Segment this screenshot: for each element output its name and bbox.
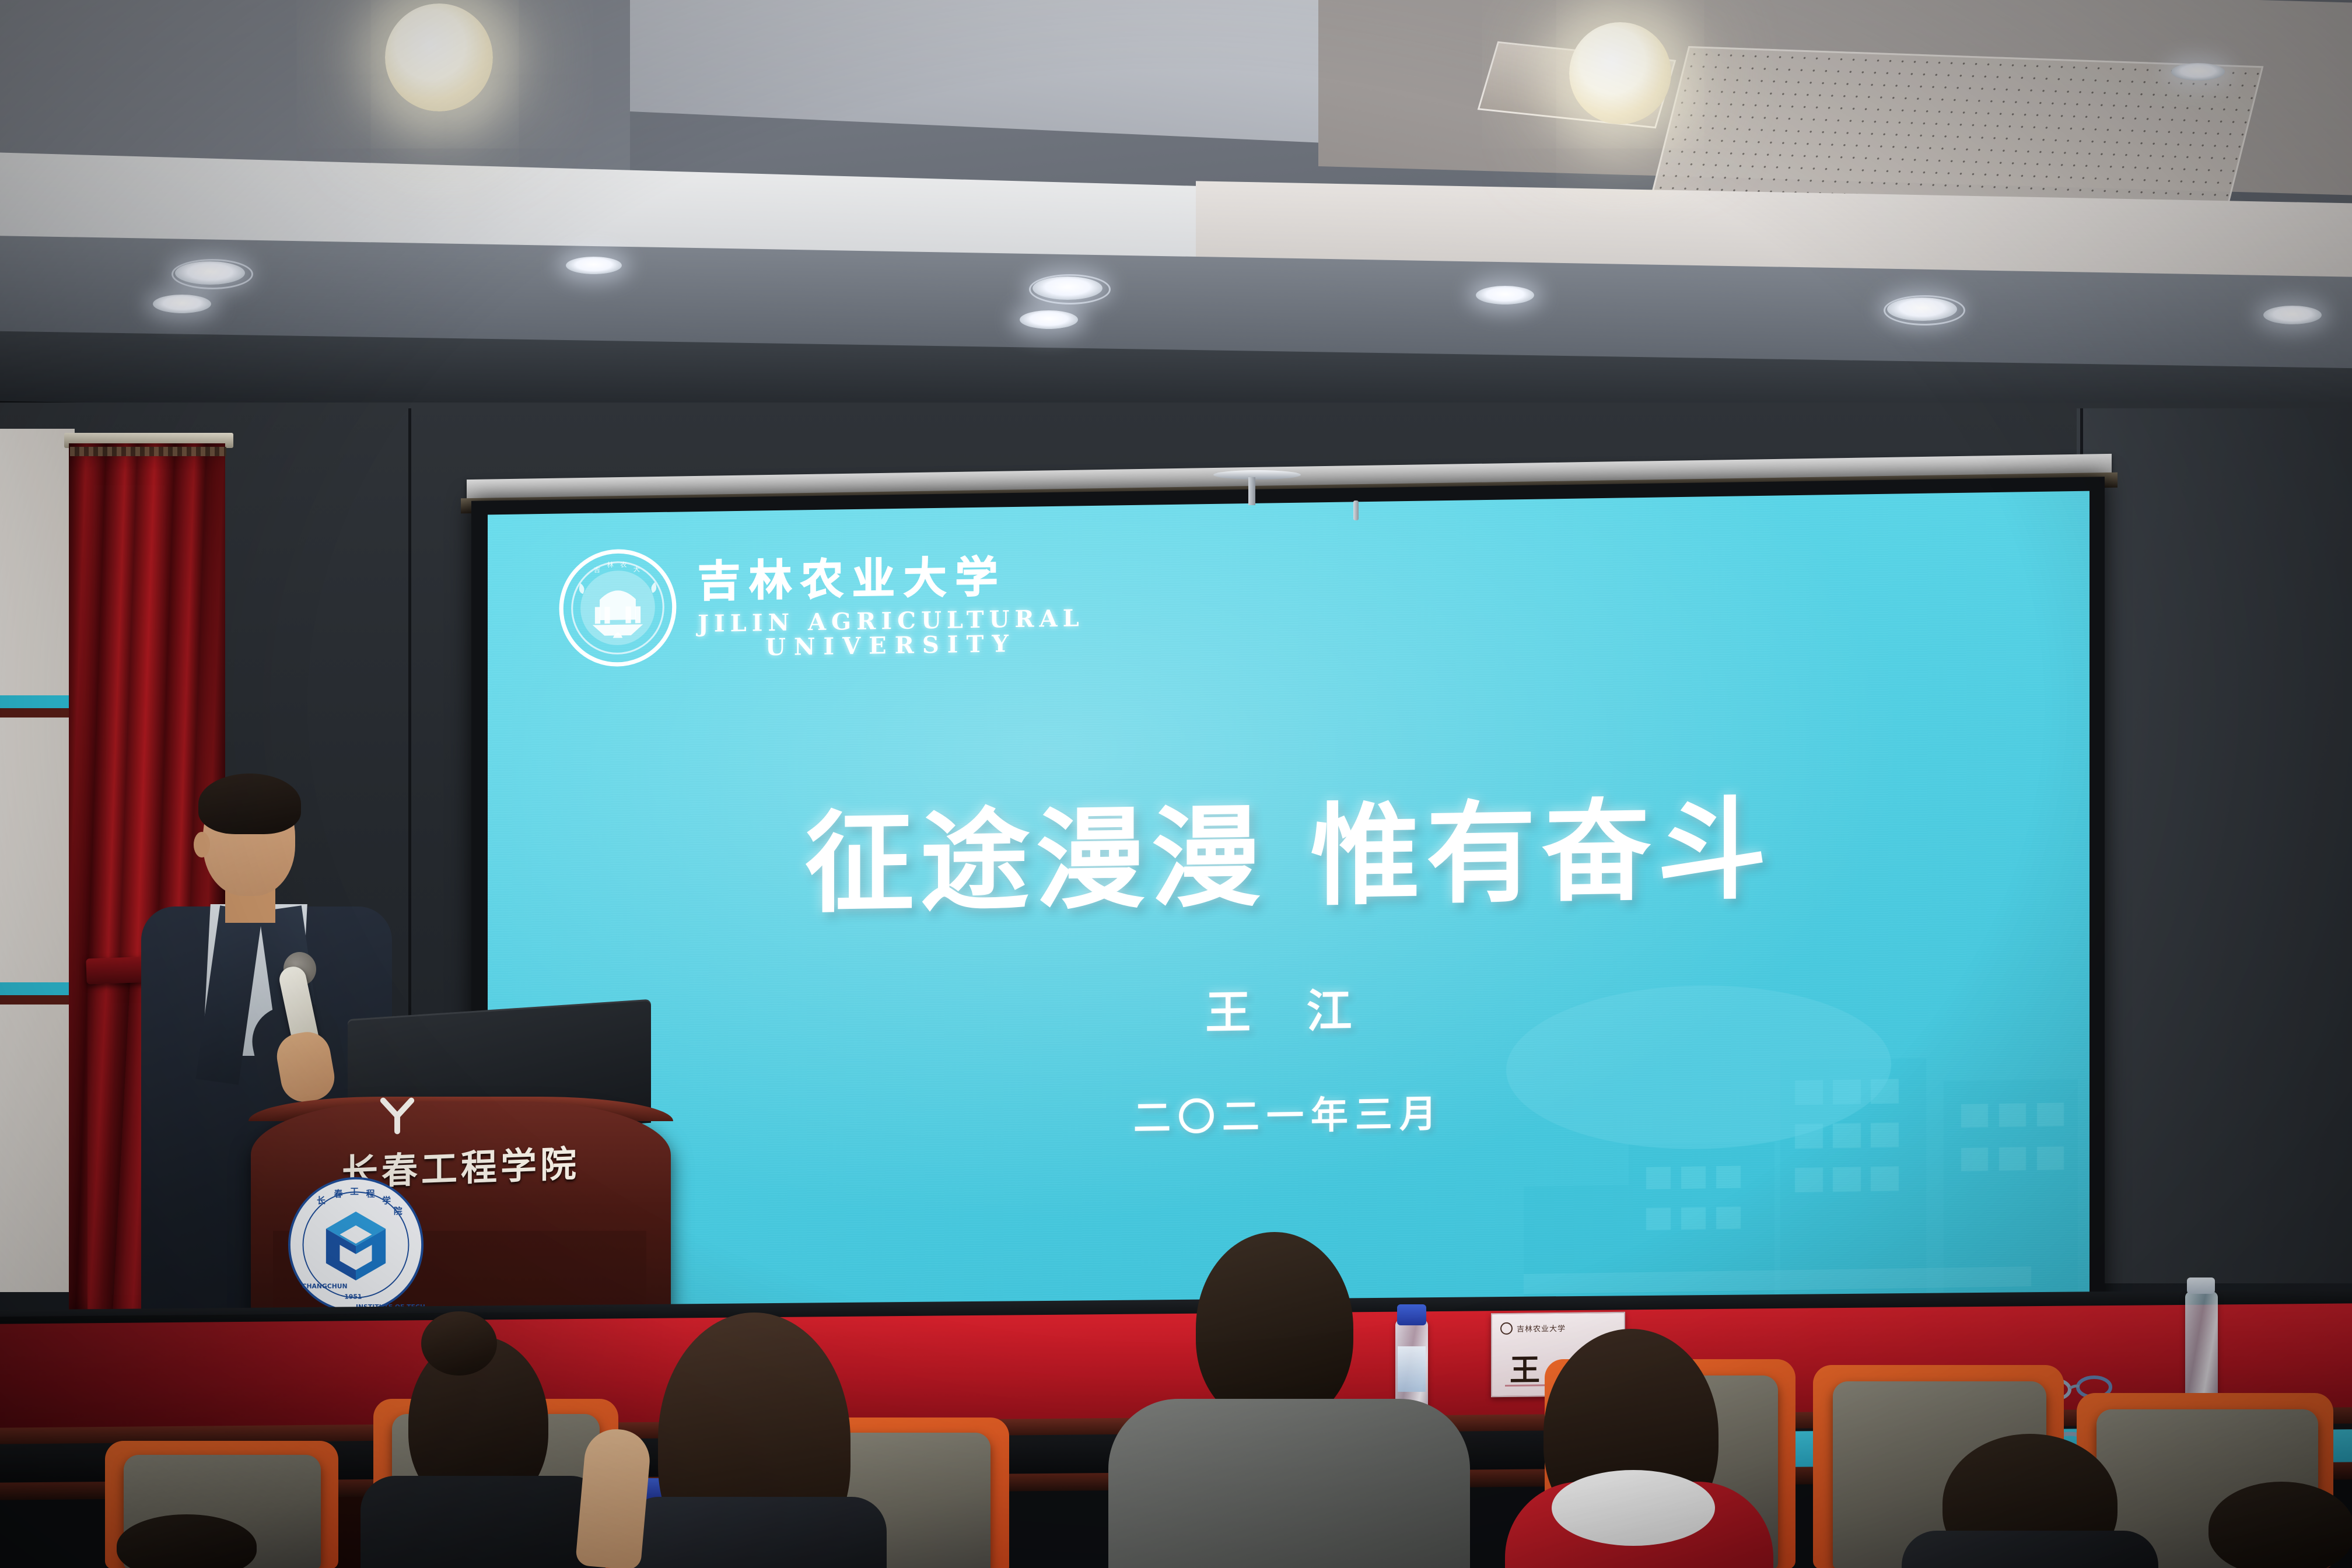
left-wall-panel — [0, 429, 75, 1292]
recessed-downlight — [2263, 306, 2322, 324]
recessed-downlight — [1476, 286, 1534, 304]
svg-text:长: 长 — [317, 1195, 325, 1206]
slide-title: 征途漫漫 惟有奋斗 — [488, 757, 2089, 939]
wall-accent-stripe-dark — [0, 708, 75, 717]
ceiling-panel-left — [0, 0, 630, 175]
svg-text:工: 工 — [350, 1186, 359, 1196]
pendant-globe-light — [1569, 22, 1671, 124]
ceiling-panel-center — [630, 0, 1377, 145]
wall-accent-stripe-dark — [0, 995, 75, 1005]
svg-text:程: 程 — [366, 1189, 375, 1199]
recessed-downlight — [1029, 274, 1111, 304]
projector-stem — [1248, 477, 1255, 505]
nameplate-seal-icon — [1500, 1322, 1513, 1335]
svg-text:大: 大 — [633, 565, 640, 573]
slide-logo: 吉林农大 吉林农业大学 JILIN AGRICULTURAL UNIVERSIT… — [558, 541, 1084, 668]
university-english-name: JILIN AGRICULTURAL UNIVERSITY — [698, 606, 1084, 661]
university-chinese-name-icon: 吉林农业大学 — [698, 548, 1012, 608]
bottle-cap-icon — [2187, 1277, 2215, 1294]
recessed-downlight — [171, 259, 253, 289]
svg-text:吉林农业大学: 吉林农业大学 — [698, 552, 1007, 607]
audience-person-torso — [1902, 1531, 2158, 1568]
changchun-institute-emblem-icon: 长春工 程学院 1951 CHANGCHUN INSTITUTE OF TECH… — [287, 1176, 425, 1314]
ceiling — [0, 0, 2352, 373]
svg-text:院: 院 — [394, 1206, 402, 1216]
university-seal-icon: 吉林农大 — [558, 547, 678, 669]
svg-text:吉: 吉 — [594, 566, 600, 574]
svg-text:学: 学 — [382, 1195, 391, 1206]
recessed-downlight — [1020, 310, 1078, 329]
speaker-ear — [194, 832, 210, 857]
bottle-cap-icon — [1397, 1304, 1426, 1325]
svg-text:春: 春 — [334, 1188, 343, 1199]
audience-person-torso — [360, 1476, 605, 1568]
projection-screen[interactable]: 吉林农大 吉林农业大学 JILIN AGRICULTURAL UNIVERSIT… — [488, 491, 2089, 1331]
wall-accent-stripe — [0, 695, 75, 708]
audience-person-torso — [1108, 1399, 1470, 1568]
auditorium-photo: 吉林农大 吉林农业大学 JILIN AGRICULTURAL UNIVERSIT… — [0, 0, 2352, 1568]
svg-text:林: 林 — [607, 561, 613, 569]
podium-y-ornament-icon — [378, 1097, 416, 1135]
recessed-downlight — [1884, 295, 1965, 325]
water-bottle[interactable] — [2185, 1291, 2218, 1402]
recessed-downlight — [566, 257, 622, 274]
wall-accent-stripe — [0, 982, 75, 995]
svg-text:CHANGCHUN: CHANGCHUN — [302, 1283, 348, 1290]
right-wall — [2077, 408, 2352, 1283]
audience-person-torso — [624, 1497, 887, 1568]
curtain-hooks — [70, 447, 226, 456]
audience-person-head — [2208, 1482, 2352, 1568]
pendant-globe-light — [385, 3, 493, 111]
speaker-hair — [198, 773, 301, 834]
audience-person-head — [1196, 1232, 1353, 1424]
recessed-downlight — [2171, 63, 2225, 80]
projector-mount-icon — [1213, 470, 1301, 480]
svg-text:农: 农 — [620, 561, 626, 569]
bottle-label — [1398, 1346, 1426, 1392]
recessed-downlight — [153, 295, 211, 313]
nameplate-header: 吉林农业大学 — [1500, 1322, 1566, 1335]
screen-clip — [1353, 501, 1359, 520]
nameplate-organization: 吉林农业大学 — [1517, 1322, 1566, 1334]
audience-person-hair-bun — [421, 1311, 497, 1375]
audience-person-hand — [575, 1427, 652, 1568]
audience-person-fur-collar — [1552, 1470, 1715, 1546]
svg-text:1951: 1951 — [344, 1293, 362, 1300]
